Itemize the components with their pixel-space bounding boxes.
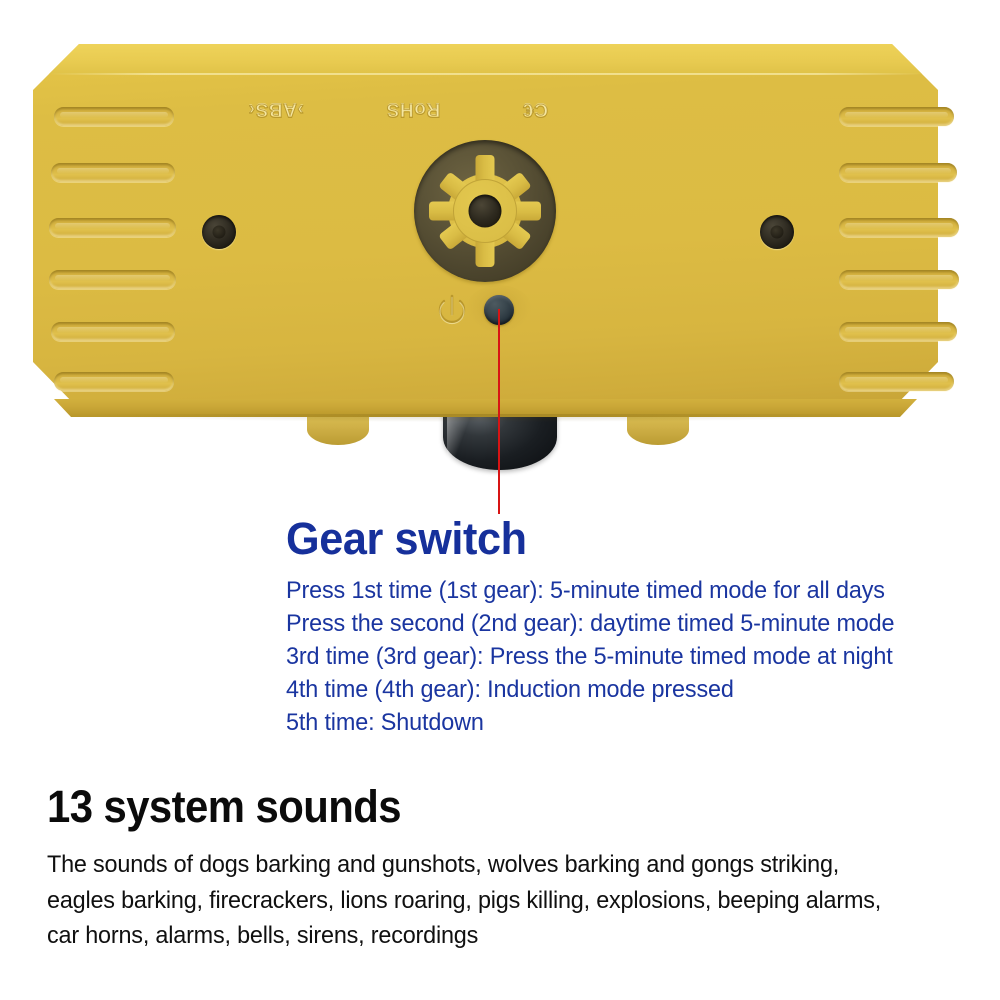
- gear-switch-section: Gear switch Press 1st time (1st gear): 5…: [286, 516, 966, 740]
- gear-line-5: 5th time: Shutdown: [286, 707, 935, 740]
- vent-right-3: [839, 218, 959, 237]
- vent-right-1: [839, 107, 954, 126]
- sounds-line-1: The sounds of dogs barking and gunshots,…: [47, 847, 926, 882]
- sounds-line-3: car horns, alarms, bells, sirens, record…: [47, 918, 926, 953]
- system-sounds-body: The sounds of dogs barking and gunshots,…: [47, 847, 926, 953]
- power-symbol-icon: [435, 290, 469, 326]
- vent-right-6: [839, 372, 954, 391]
- bracket-mount-icon: [414, 140, 556, 282]
- screw-right-icon: [760, 215, 794, 249]
- mount-center-hole: [469, 195, 502, 228]
- vent-left-5: [51, 322, 175, 341]
- vent-left-4: [49, 270, 176, 289]
- product-image-area: C€ RoHS ›ABS‹: [0, 0, 1000, 510]
- molding-marks-row: C€ RoHS ›ABS‹: [248, 96, 548, 122]
- gear-line-4: 4th time (4th gear): Induction mode pres…: [286, 674, 935, 707]
- vent-left-6: [54, 372, 174, 391]
- sounds-line-2: eagles barking, firecrackers, lions roar…: [47, 883, 926, 918]
- gear-switch-heading: Gear switch: [286, 516, 939, 562]
- device-drop-shadow: [70, 414, 900, 422]
- gear-line-2: Press the second (2nd gear): daytime tim…: [286, 608, 935, 641]
- gear-line-1: Press 1st time (1st gear): 5-minute time…: [286, 575, 935, 608]
- gear-switch-lines: Press 1st time (1st gear): 5-minute time…: [286, 575, 935, 740]
- system-sounds-heading: 13 system sounds: [47, 783, 903, 830]
- vent-left-1: [54, 107, 174, 126]
- vent-right-5: [839, 322, 957, 341]
- screw-left-icon: [202, 215, 236, 249]
- device-seam: [49, 73, 922, 75]
- vent-right-4: [839, 270, 959, 289]
- vent-left-3: [49, 218, 176, 237]
- device-top-bevel: [33, 44, 938, 74]
- vent-left-2: [51, 163, 175, 182]
- ce-mark-text: C€: [523, 98, 549, 120]
- vent-right-2: [839, 163, 957, 182]
- gear-line-3: 3rd time (3rd gear): Press the 5-minute …: [286, 641, 935, 674]
- rohs-mark-text: RoHS: [386, 98, 440, 120]
- abs-mark-text: ›ABS‹: [248, 98, 304, 120]
- red-leader-line-icon: [498, 309, 500, 514]
- system-sounds-section: 13 system sounds The sounds of dogs bark…: [47, 783, 967, 953]
